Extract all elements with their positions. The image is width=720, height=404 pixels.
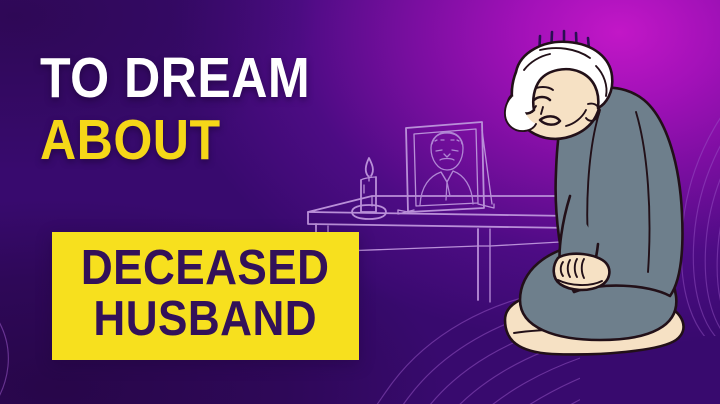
headline-line-2: ABOUT: [40, 114, 357, 166]
headline-block: TO DREAM ABOUT: [40, 52, 400, 167]
kneeling-woman: [505, 31, 684, 354]
clasped-hands: [554, 254, 610, 290]
highlight-line-2: HUSBAND: [94, 295, 318, 344]
headline-line-1: TO DREAM: [40, 52, 357, 104]
portrait-figure: [420, 132, 473, 205]
thumbnail-canvas: TO DREAM ABOUT DECEASED HUSBAND: [0, 0, 720, 404]
highlight-line-1: DECEASED: [81, 244, 330, 293]
memorial-candle: [352, 158, 386, 219]
highlight-box: DECEASED HUSBAND: [52, 232, 359, 360]
framed-portrait: [398, 122, 494, 214]
